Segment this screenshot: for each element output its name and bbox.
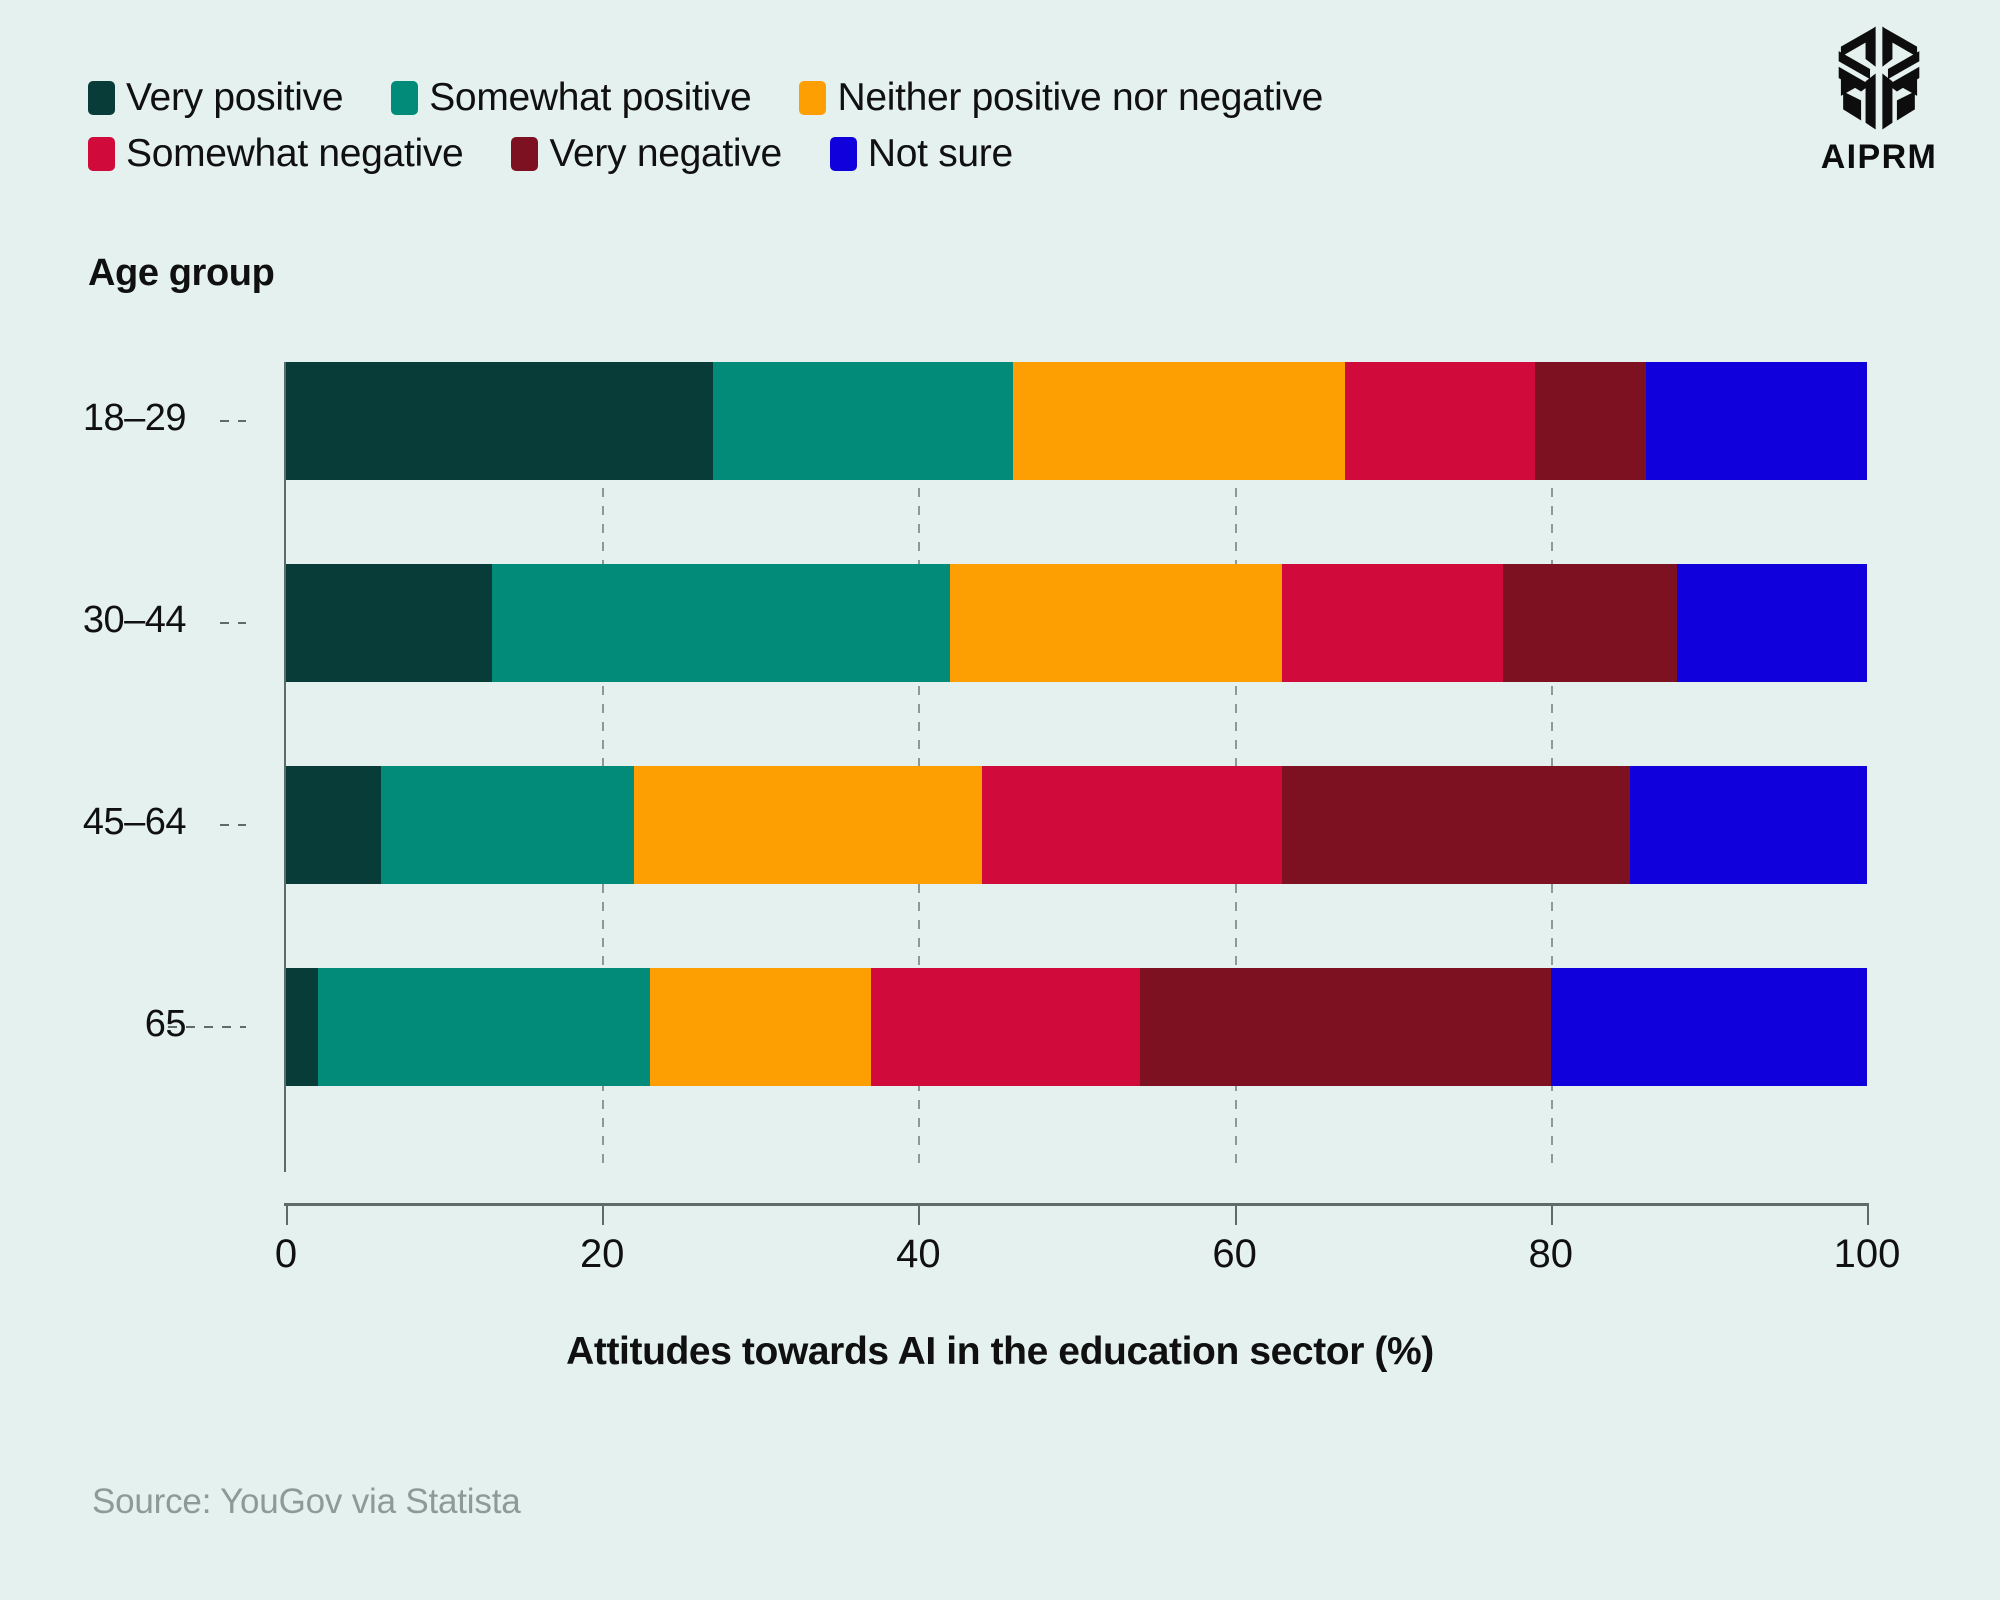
bar-segment[interactable] xyxy=(1013,362,1345,480)
y-axis-tick-label: 65 xyxy=(145,1003,186,1046)
bar-segment[interactable] xyxy=(286,766,381,884)
legend-label: Somewhat positive xyxy=(429,78,751,117)
bar-segment[interactable] xyxy=(1282,564,1503,682)
legend-label: Somewhat negative xyxy=(126,134,463,173)
source-note: Source: YouGov via Statista xyxy=(92,1482,520,1522)
bar-segment[interactable] xyxy=(1140,968,1551,1086)
x-axis-tick-mark xyxy=(1235,1203,1237,1225)
bar-segment[interactable] xyxy=(286,564,492,682)
legend-item-somewhat-positive[interactable]: Somewhat positive xyxy=(391,78,751,117)
legend-label: Not sure xyxy=(868,134,1013,173)
legend-item-not-sure[interactable]: Not sure xyxy=(830,134,1013,173)
y-axis-tick-label: 30–44 xyxy=(83,599,186,642)
y-axis-tick-mark xyxy=(220,824,246,826)
y-axis-group-title: Age group xyxy=(88,252,274,295)
legend-swatch-icon xyxy=(830,137,857,171)
x-axis-tick-label: 80 xyxy=(1471,1232,1631,1277)
bar-segment[interactable] xyxy=(286,968,318,1086)
bar-segment[interactable] xyxy=(871,968,1140,1086)
bar-segment[interactable] xyxy=(1677,564,1867,682)
x-axis-tick-mark xyxy=(1867,1203,1869,1225)
x-axis-tick-mark xyxy=(602,1203,604,1225)
bar-segment[interactable] xyxy=(650,968,871,1086)
x-axis-tick-label: 100 xyxy=(1787,1232,1947,1277)
bar-segment[interactable] xyxy=(1345,362,1535,480)
bar-segment[interactable] xyxy=(1503,564,1677,682)
y-axis-tick-mark xyxy=(220,420,246,422)
x-axis-tick-label: 60 xyxy=(1155,1232,1315,1277)
x-axis-tick-label: 40 xyxy=(838,1232,998,1277)
legend-swatch-icon xyxy=(511,137,538,171)
legend-label: Very positive xyxy=(126,78,343,117)
y-axis-tick-label: 18–29 xyxy=(83,397,186,440)
bar-row[interactable] xyxy=(286,564,1867,682)
y-axis-tick-label: 45–64 xyxy=(83,801,186,844)
chart-legend: Very positiveSomewhat positiveNeither po… xyxy=(88,78,1708,190)
bar-segment[interactable] xyxy=(950,564,1282,682)
aiprm-cube-icon xyxy=(1823,22,1935,134)
legend-swatch-icon xyxy=(799,81,826,115)
x-axis-tick-mark xyxy=(918,1203,920,1225)
legend-swatch-icon xyxy=(88,81,115,115)
bar-segment[interactable] xyxy=(982,766,1282,884)
legend-label: Neither positive nor negative xyxy=(837,78,1323,117)
bar-segment[interactable] xyxy=(492,564,950,682)
x-axis-tick-label: 0 xyxy=(206,1232,366,1277)
bar-row[interactable] xyxy=(286,362,1867,480)
bar-segment[interactable] xyxy=(1646,362,1867,480)
legend-swatch-icon xyxy=(391,81,418,115)
x-axis-tick-mark xyxy=(1551,1203,1553,1225)
x-axis-line xyxy=(284,1203,1869,1206)
legend-item-somewhat-negative[interactable]: Somewhat negative xyxy=(88,134,463,173)
bar-segment[interactable] xyxy=(713,362,1013,480)
legend-item-very-positive[interactable]: Very positive xyxy=(88,78,343,117)
legend-row: Very positiveSomewhat positiveNeither po… xyxy=(88,78,1708,117)
legend-swatch-icon xyxy=(88,137,115,171)
legend-label: Very negative xyxy=(549,134,781,173)
x-axis-title: Attitudes towards AI in the education se… xyxy=(0,1330,2000,1374)
bar-segment[interactable] xyxy=(381,766,634,884)
bar-segment[interactable] xyxy=(634,766,982,884)
bar-segment[interactable] xyxy=(1551,968,1867,1086)
bar-segment[interactable] xyxy=(286,362,713,480)
aiprm-wordmark: AIPRM xyxy=(1814,138,1944,177)
x-axis-tick-label: 20 xyxy=(522,1232,682,1277)
y-axis-tick-mark xyxy=(220,622,246,624)
bar-segment[interactable] xyxy=(1535,362,1646,480)
bar-row[interactable] xyxy=(286,766,1867,884)
legend-item-neither-positive-nor-negative[interactable]: Neither positive nor negative xyxy=(799,78,1323,117)
legend-row: Somewhat negativeVery negativeNot sure xyxy=(88,134,1708,173)
legend-item-very-negative[interactable]: Very negative xyxy=(511,134,781,173)
x-axis-tick-mark xyxy=(286,1203,288,1225)
bar-segment[interactable] xyxy=(1630,766,1867,884)
bar-segment[interactable] xyxy=(1282,766,1630,884)
aiprm-logo: AIPRM xyxy=(1814,22,1944,177)
stacked-bar-plot-area xyxy=(286,362,1867,1172)
bar-segment[interactable] xyxy=(318,968,650,1086)
y-axis-tick-mark xyxy=(168,1026,246,1028)
bar-row[interactable] xyxy=(286,968,1867,1086)
